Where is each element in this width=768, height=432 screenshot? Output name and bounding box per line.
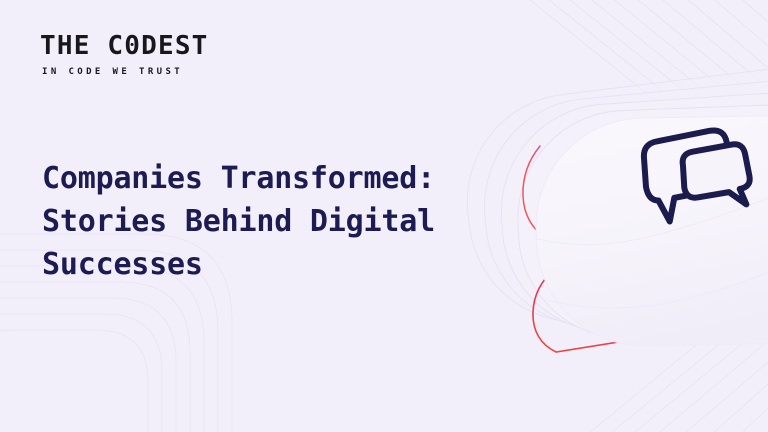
brand-logo[interactable]: THE C0DEST IN CODE WE TRUST — [40, 33, 209, 77]
logo-tagline: IN CODE WE TRUST — [40, 68, 209, 77]
headline-line-3: Successes — [42, 243, 512, 286]
logo-wordmark: THE C0DEST — [40, 33, 209, 59]
headline-line-2: Stories Behind Digital — [42, 200, 512, 243]
headline-line-1: Companies Transformed: — [42, 157, 512, 200]
diagonal-hairlines-bottom-right — [566, 286, 768, 432]
page-title: Companies Transformed: Stories Behind Di… — [42, 157, 512, 286]
speech-bubbles-icon — [626, 120, 756, 230]
slide-canvas: THE C0DEST IN CODE WE TRUST Companies Tr… — [0, 0, 768, 432]
